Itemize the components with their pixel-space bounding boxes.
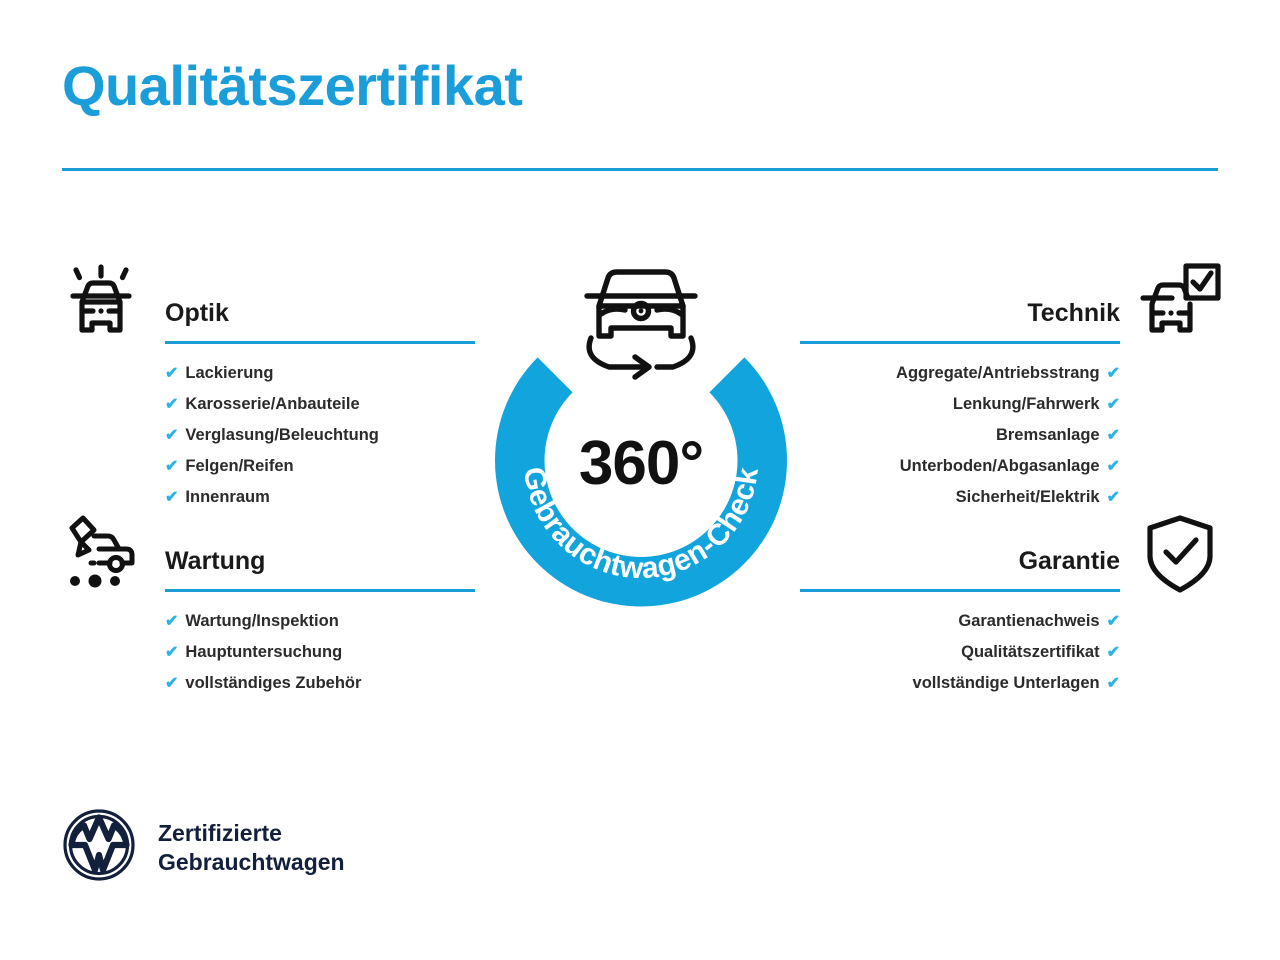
- check-icon: ✔: [165, 675, 178, 692]
- list-item-label: Innenraum: [185, 488, 269, 506]
- list-item-label: Aggregate/Antriebsstrang: [896, 364, 1100, 382]
- check-icon: ✔: [1107, 427, 1120, 444]
- check-icon: ✔: [1107, 613, 1120, 630]
- list-item: Lenkung/Fahrwerk✔: [800, 389, 1120, 420]
- checklist-optik: ✔Lackierung ✔Karosserie/Anbauteile ✔Verg…: [165, 358, 475, 513]
- check-icon: ✔: [165, 644, 178, 661]
- section-wartung: Wartung ✔Wartung/Inspektion ✔Hauptunters…: [165, 546, 475, 699]
- list-item: ✔Wartung/Inspektion: [165, 606, 475, 637]
- check-icon: ✔: [1107, 458, 1120, 475]
- list-item: vollständige Unterlagen✔: [800, 668, 1120, 699]
- list-item-label: Garantienachweis: [958, 612, 1099, 630]
- check-icon: ✔: [165, 427, 178, 444]
- check-icon: ✔: [1107, 489, 1120, 506]
- list-item-label: Qualitätszertifikat: [961, 643, 1099, 661]
- list-item-label: Sicherheit/Elektrik: [956, 488, 1100, 506]
- footer-line-1: Zertifizierte: [158, 819, 345, 848]
- section-title: Garantie: [800, 546, 1120, 576]
- list-item: Aggregate/Antriebsstrang✔: [800, 358, 1120, 389]
- section-optik: Optik ✔Lackierung ✔Karosserie/Anbauteile…: [165, 298, 475, 513]
- list-item-label: Felgen/Reifen: [185, 457, 293, 475]
- check-icon: ✔: [165, 489, 178, 506]
- list-item: Garantienachweis✔: [800, 606, 1120, 637]
- list-item-label: vollständiges Zubehör: [185, 674, 361, 692]
- list-item: ✔Verglasung/Beleuchtung: [165, 420, 475, 451]
- check-icon: ✔: [1107, 644, 1120, 661]
- checklist-garantie: Garantienachweis✔ Qualitätszertifikat✔ v…: [800, 606, 1120, 699]
- section-title: Technik: [800, 298, 1120, 328]
- shield-check-icon: [1142, 512, 1218, 603]
- check-icon: ✔: [165, 396, 178, 413]
- list-item: Qualitätszertifikat✔: [800, 637, 1120, 668]
- title-divider: [62, 168, 1218, 171]
- list-item-label: Wartung/Inspektion: [185, 612, 338, 630]
- check-icon: ✔: [1107, 396, 1120, 413]
- check-icon: ✔: [1107, 675, 1120, 692]
- list-item: ✔Karosserie/Anbauteile: [165, 389, 475, 420]
- section-header: Optik: [165, 298, 475, 344]
- list-item-label: Unterboden/Abgasanlage: [900, 457, 1100, 475]
- badge-360-check: Gebrauchtwagen-Check 360°: [466, 246, 816, 626]
- list-item-label: Hauptuntersuchung: [185, 643, 342, 661]
- check-icon: ✔: [165, 458, 178, 475]
- section-divider: [165, 341, 475, 344]
- list-item-label: Lackierung: [185, 364, 273, 382]
- page-title: Qualitätszertifikat: [62, 58, 522, 114]
- section-header: Wartung: [165, 546, 475, 592]
- footer-brand-lockup: Zertifizierte Gebrauchtwagen: [62, 808, 345, 887]
- section-title: Wartung: [165, 546, 475, 576]
- volkswagen-logo-icon: [62, 808, 136, 887]
- list-item-label: Bremsanlage: [996, 426, 1100, 444]
- list-item-label: Lenkung/Fahrwerk: [953, 395, 1100, 413]
- section-divider: [800, 341, 1120, 344]
- list-item: ✔Lackierung: [165, 358, 475, 389]
- list-item: ✔Felgen/Reifen: [165, 451, 475, 482]
- footer-line-2: Gebrauchtwagen: [158, 848, 345, 877]
- checklist-technik: Aggregate/Antriebsstrang✔ Lenkung/Fahrwe…: [800, 358, 1120, 513]
- car-front-checkbox-icon: [1132, 258, 1224, 349]
- list-item: ✔Hauptuntersuchung: [165, 637, 475, 668]
- car-rotate-360-icon: [587, 272, 695, 377]
- footer-text-block: Zertifizierte Gebrauchtwagen: [158, 819, 345, 877]
- quality-certificate-page: Qualitätszertifikat: [0, 0, 1280, 960]
- list-item: ✔vollständiges Zubehör: [165, 668, 475, 699]
- car-front-lights-icon: [58, 258, 144, 349]
- check-icon: ✔: [1107, 365, 1120, 382]
- list-item-label: vollständige Unterlagen: [913, 674, 1100, 692]
- section-header: Garantie: [800, 546, 1120, 592]
- section-title: Optik: [165, 298, 475, 328]
- list-item: Sicherheit/Elektrik✔: [800, 482, 1120, 513]
- list-item: ✔Innenraum: [165, 482, 475, 513]
- section-divider: [165, 589, 475, 592]
- section-technik: Technik Aggregate/Antriebsstrang✔ Lenkun…: [800, 298, 1120, 513]
- check-icon: ✔: [165, 365, 178, 382]
- check-icon: ✔: [165, 613, 178, 630]
- section-header: Technik: [800, 298, 1120, 344]
- checklist-wartung: ✔Wartung/Inspektion ✔Hauptuntersuchung ✔…: [165, 606, 475, 699]
- list-item: Bremsanlage✔: [800, 420, 1120, 451]
- pen-car-service-icon: [58, 512, 144, 603]
- section-garantie: Garantie Garantienachweis✔ Qualitätszert…: [800, 546, 1120, 699]
- badge-value: 360°: [466, 428, 816, 499]
- list-item-label: Karosserie/Anbauteile: [185, 395, 359, 413]
- list-item-label: Verglasung/Beleuchtung: [185, 426, 378, 444]
- section-divider: [800, 589, 1120, 592]
- list-item: Unterboden/Abgasanlage✔: [800, 451, 1120, 482]
